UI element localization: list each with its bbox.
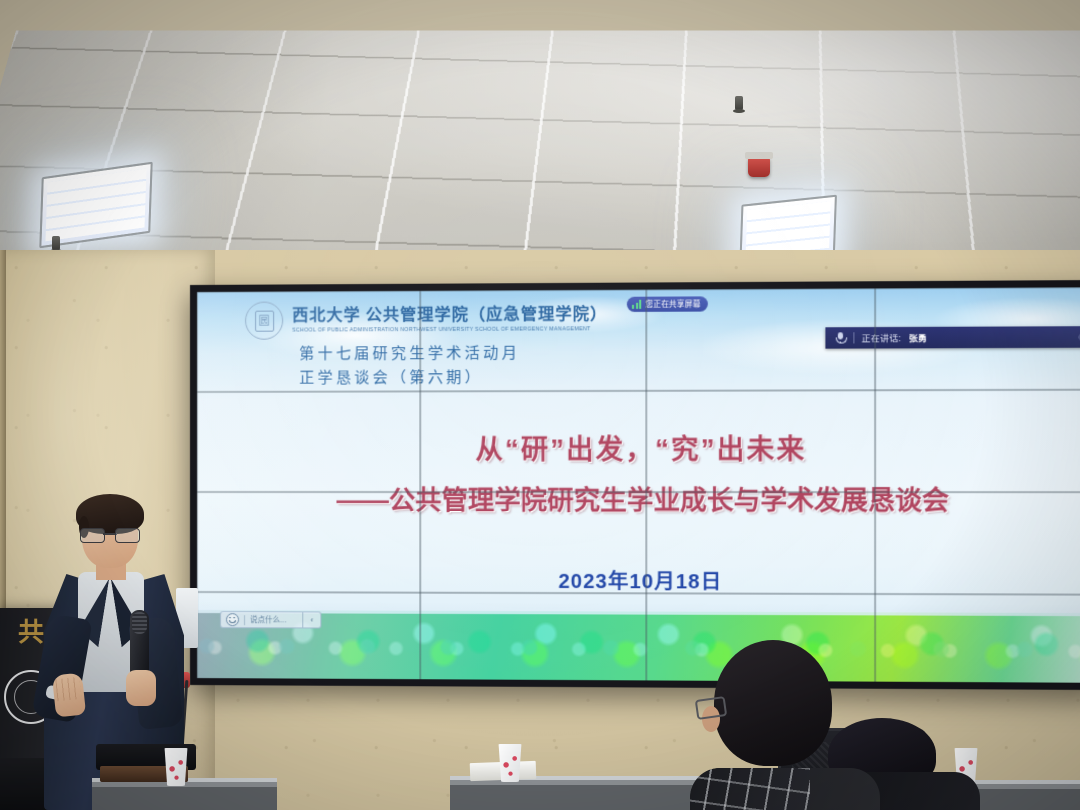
- signal-bars-icon: [632, 300, 641, 309]
- microphone-icon: [835, 332, 846, 343]
- slide-campus-photo: [197, 610, 1080, 683]
- chat-input-divider: [244, 615, 245, 625]
- smiley-face-icon[interactable]: [226, 613, 239, 626]
- chevron-left-icon[interactable]: ‹: [302, 612, 320, 627]
- slide-date: 2023年10月18日: [197, 564, 1080, 596]
- slide-header-line-1: 第十七届研究生学术活动月: [299, 341, 607, 363]
- conference-room-photo: 囻 西北大学 公共管理学院（应急管理学院） SCHOOL OF PUBLIC A…: [0, 0, 1080, 810]
- eyeglasses-icon: [80, 528, 140, 541]
- presentation-slide: 囻 西北大学 公共管理学院（应急管理学院） SCHOOL OF PUBLIC A…: [197, 287, 1080, 683]
- sprinkler-head-icon: [735, 96, 743, 110]
- chat-input-placeholder[interactable]: 说点什么...: [250, 614, 302, 625]
- speaker-bar-divider: [853, 332, 854, 343]
- slide-title: 从“研”出发，“究”出未来: [197, 427, 1080, 467]
- fire-alarm-bell-icon: [748, 157, 770, 177]
- screen-share-badge: 您正在共享屏幕: [627, 296, 708, 312]
- paper-cup: [497, 744, 523, 782]
- eyeglasses-icon: [695, 696, 727, 720]
- table: [450, 776, 720, 810]
- chevron-left-icon[interactable]: 〈〈: [1072, 329, 1080, 344]
- slide-header-line-2: 正学恳谈会（第六期）: [299, 366, 607, 388]
- paper-cup: [163, 748, 189, 786]
- presenter-raised-hand: [52, 673, 86, 718]
- slide-header: 囻 西北大学 公共管理学院（应急管理学院） SCHOOL OF PUBLIC A…: [245, 300, 607, 388]
- seal-glyph: 囻: [255, 310, 274, 331]
- active-speaker-bar[interactable]: 正在讲话: 张勇 〈〈: [825, 326, 1080, 349]
- university-name-en: SCHOOL OF PUBLIC ADMINISTRATION NORTHWES…: [292, 326, 614, 333]
- university-seal-icon: 囻: [245, 302, 283, 340]
- speaker-name: 张勇: [909, 331, 928, 343]
- attendee-front: [690, 640, 870, 810]
- slide-subtitle: ——公共管理学院研究生学业成长与学术发展恳谈会: [197, 480, 1080, 518]
- chat-input-bar[interactable]: 说点什么... ‹: [220, 611, 321, 628]
- university-name-cn: 西北大学 公共管理学院（应急管理学院）: [292, 300, 607, 326]
- presenter-hand-holding-mic: [126, 670, 156, 706]
- speaking-label: 正在讲话:: [862, 332, 902, 344]
- video-wall-display[interactable]: 囻 西北大学 公共管理学院（应急管理学院） SCHOOL OF PUBLIC A…: [190, 280, 1080, 690]
- sprinkler-head-icon: [52, 236, 60, 250]
- screen-share-label: 您正在共享屏幕: [645, 298, 700, 309]
